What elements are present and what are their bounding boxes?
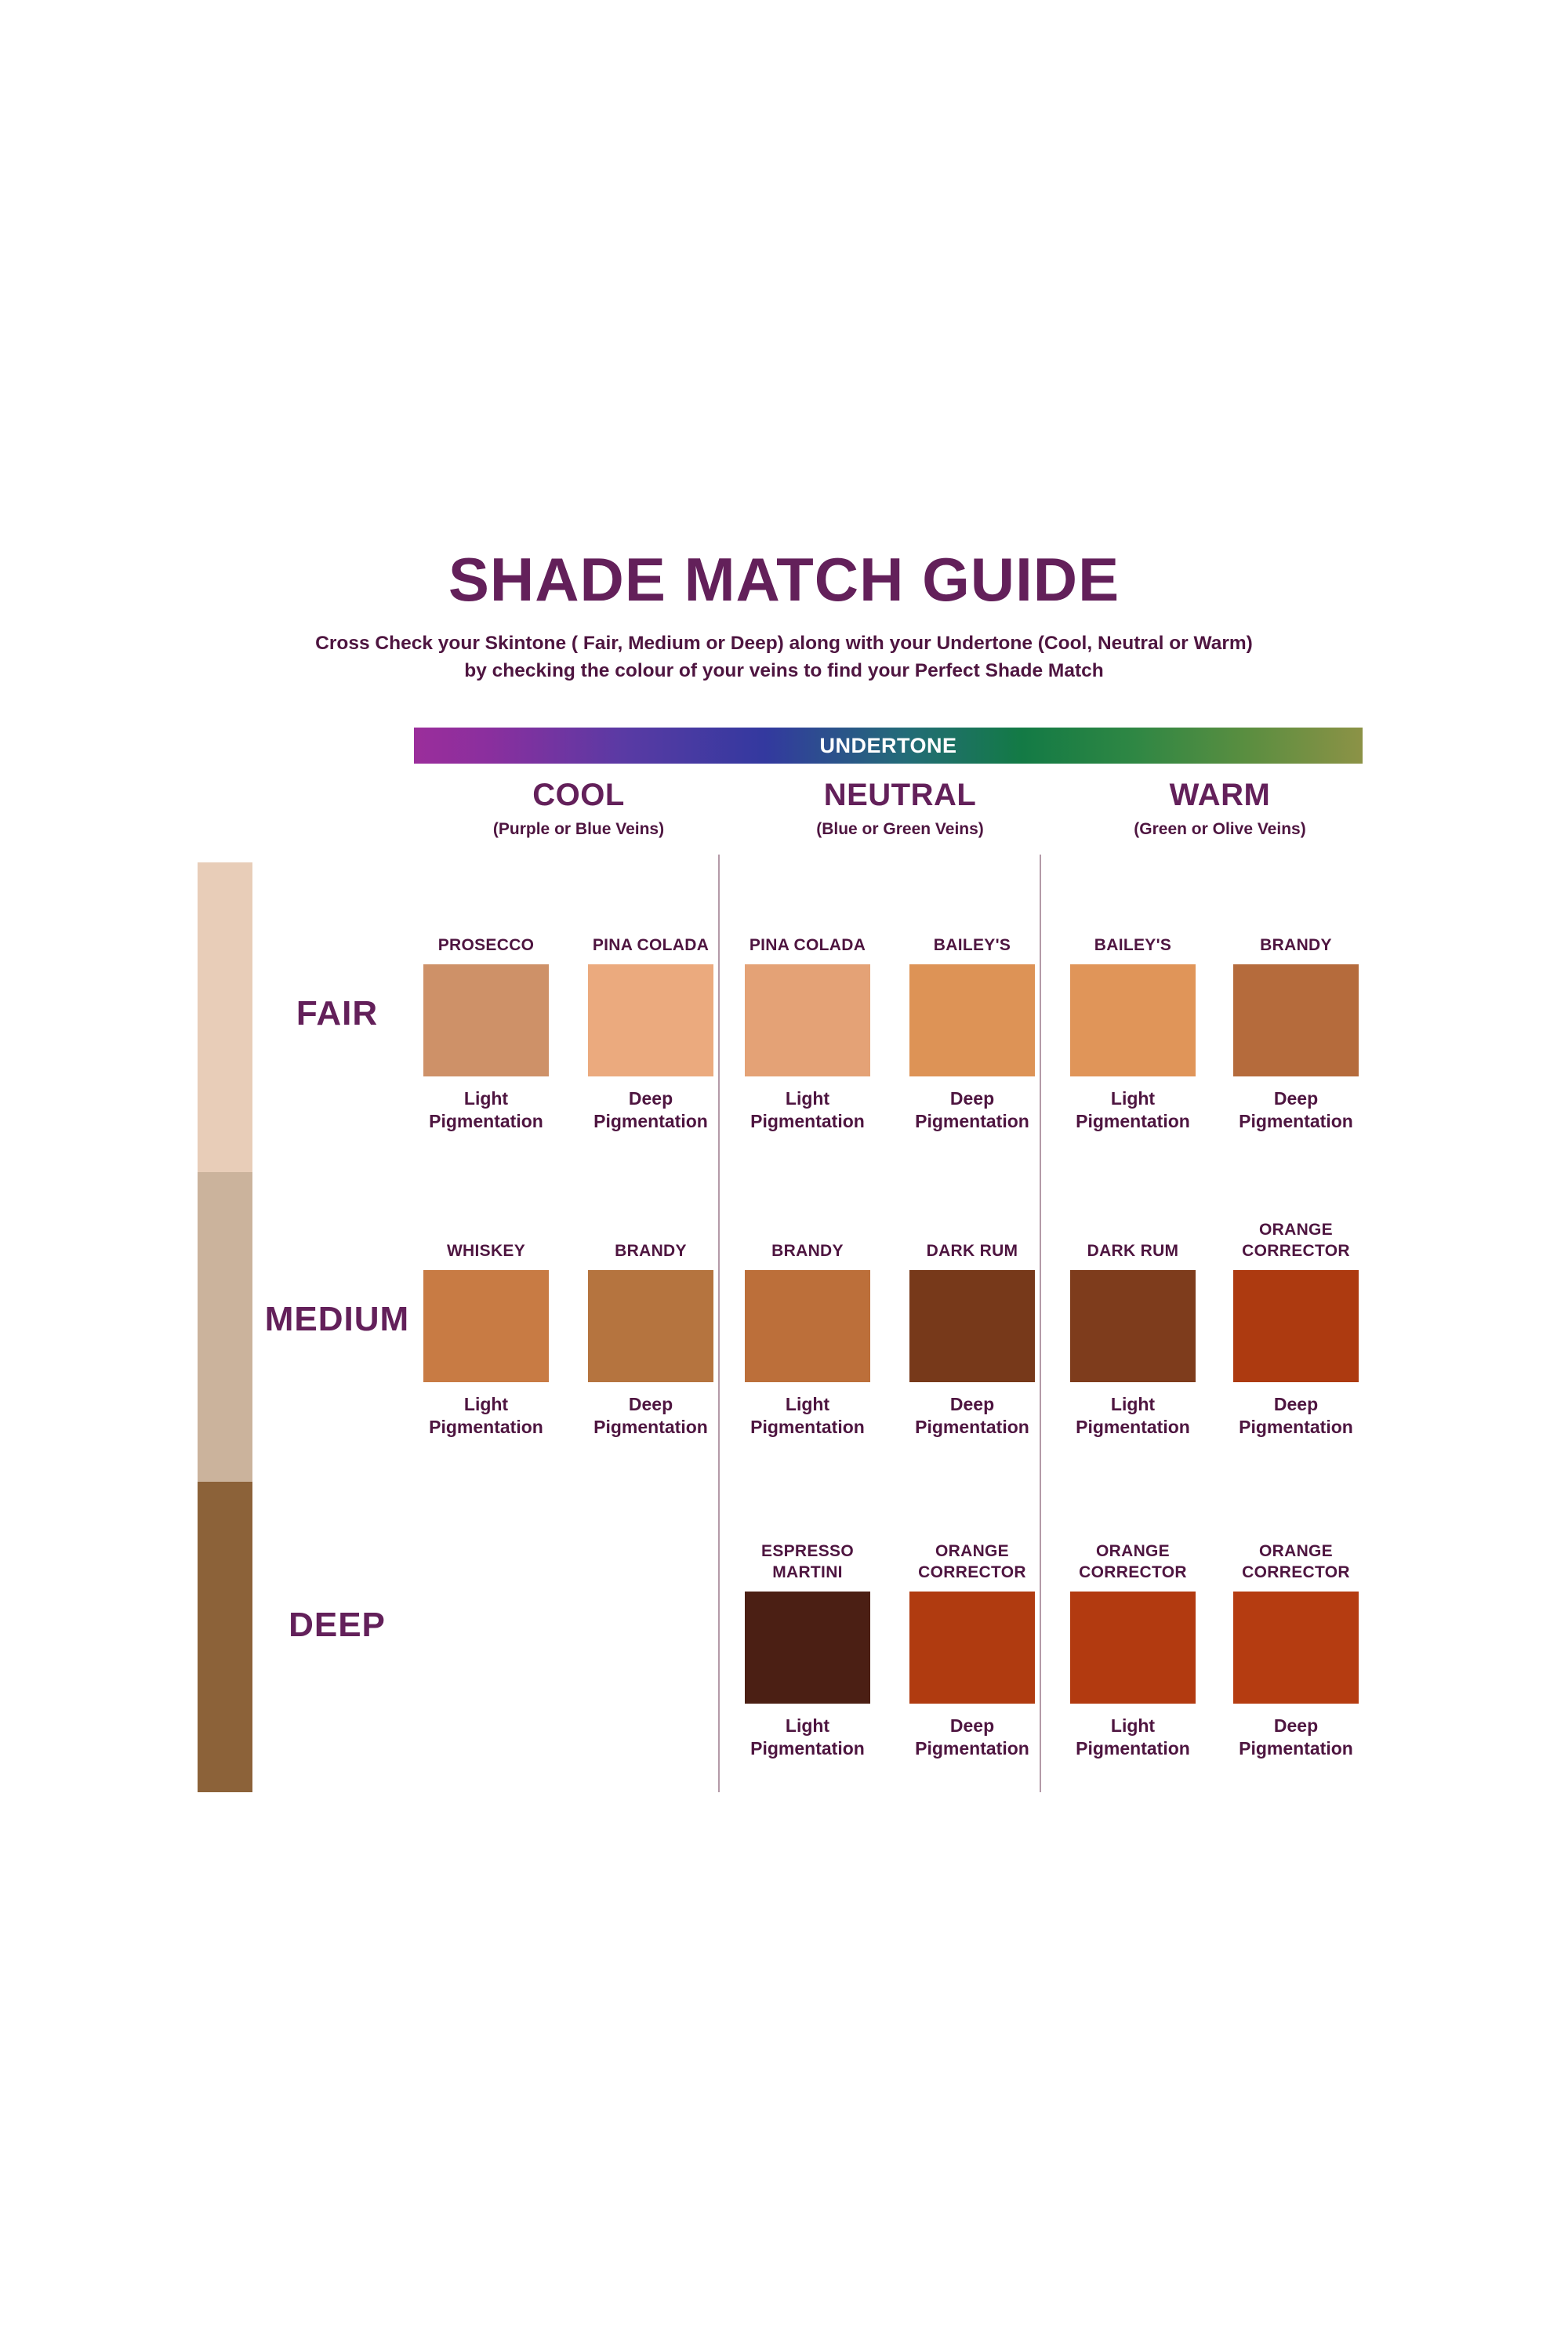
shade-name: ORANGECORRECTOR: [1058, 1541, 1207, 1584]
shade-swatch[interactable]: [909, 1270, 1035, 1382]
shade-name: ORANGECORRECTOR: [1221, 1220, 1370, 1262]
skintone-segment-fair: [198, 862, 252, 1172]
shade-name: ORANGECORRECTOR: [1221, 1541, 1370, 1584]
skintone-segment-medium: SKINTONE: [198, 1172, 252, 1482]
skintone-bar: SKINTONE: [198, 862, 252, 1792]
shade-swatch[interactable]: [745, 1592, 870, 1704]
shade-swatch[interactable]: [1070, 1270, 1196, 1382]
pigmentation-label: DeepPigmentation: [576, 1087, 725, 1134]
shade-swatch[interactable]: [588, 1270, 713, 1382]
shade-name: DARK RUM: [1058, 1241, 1207, 1262]
swatch-cell-deep-neutral-light[interactable]: ESPRESSOMARTINI LightPigmentation: [733, 1592, 882, 1761]
shade-swatch[interactable]: [1233, 1270, 1359, 1382]
swatch-cell-fair-warm-deep[interactable]: BRANDY DeepPigmentation: [1221, 964, 1370, 1134]
page-title: SHADE MATCH GUIDE: [0, 549, 1568, 610]
column-header-cool: COOL (Purple or Blue Veins): [414, 779, 743, 839]
skintone-segment-deep: [198, 1482, 252, 1792]
pigmentation-label: DeepPigmentation: [898, 1715, 1047, 1761]
row-label-deep: DEEP: [259, 1606, 416, 1645]
column-sub-neutral: (Blue or Green Veins): [735, 820, 1065, 839]
swatch-cell-fair-cool-deep[interactable]: PINA COLADA DeepPigmentation: [576, 964, 725, 1134]
header: SHADE MATCH GUIDE Cross Check your Skint…: [0, 549, 1568, 685]
swatch-cell-deep-cool-light: [412, 1592, 561, 1715]
swatch-cell-medium-neutral-light[interactable]: BRANDY LightPigmentation: [733, 1270, 882, 1439]
column-sub-cool: (Purple or Blue Veins): [414, 820, 743, 839]
shade-name: BRANDY: [576, 1241, 725, 1262]
swatch-cell-medium-neutral-deep[interactable]: DARK RUM DeepPigmentation: [898, 1270, 1047, 1439]
pigmentation-label: DeepPigmentation: [898, 1393, 1047, 1439]
pigmentation-label: LightPigmentation: [733, 1715, 882, 1761]
column-title-cool: COOL: [414, 779, 743, 811]
column-title-warm: WARM: [1055, 779, 1385, 811]
pigmentation-label: LightPigmentation: [412, 1393, 561, 1439]
shade-name: PINA COLADA: [576, 935, 725, 956]
column-header-warm: WARM (Green or Olive Veins): [1055, 779, 1385, 839]
shade-name: DARK RUM: [898, 1241, 1047, 1262]
pigmentation-label: LightPigmentation: [1058, 1393, 1207, 1439]
pigmentation-label: DeepPigmentation: [1221, 1087, 1370, 1134]
column-title-neutral: NEUTRAL: [735, 779, 1065, 811]
column-header-neutral: NEUTRAL (Blue or Green Veins): [735, 779, 1065, 839]
shade-swatch[interactable]: [745, 1270, 870, 1382]
shade-swatch[interactable]: [1070, 1592, 1196, 1704]
shade-name: ESPRESSOMARTINI: [733, 1541, 882, 1584]
undertone-gradient-bar: UNDERTONE: [414, 728, 1363, 764]
shade-name: BAILEY'S: [898, 935, 1047, 956]
shade-name: BAILEY'S: [1058, 935, 1207, 956]
pigmentation-label: LightPigmentation: [733, 1087, 882, 1134]
shade-name: PROSECCO: [412, 935, 561, 956]
swatch-cell-deep-warm-light[interactable]: ORANGECORRECTOR LightPigmentation: [1058, 1592, 1207, 1761]
subtitle-line-2: by checking the colour of your veins to …: [0, 658, 1568, 685]
swatch-cell-fair-neutral-light[interactable]: PINA COLADA LightPigmentation: [733, 964, 882, 1134]
swatch-cell-deep-cool-deep: [576, 1592, 725, 1715]
swatch-cell-medium-warm-deep[interactable]: ORANGECORRECTOR DeepPigmentation: [1221, 1270, 1370, 1439]
swatch-cell-medium-cool-light[interactable]: WHISKEY LightPigmentation: [412, 1270, 561, 1439]
row-label-medium: MEDIUM: [259, 1300, 416, 1339]
shade-swatch[interactable]: [909, 964, 1035, 1076]
shade-swatch[interactable]: [423, 1270, 549, 1382]
shade-match-guide-page: SHADE MATCH GUIDE Cross Check your Skint…: [0, 0, 1568, 2352]
shade-name: BRANDY: [733, 1241, 882, 1262]
shade-swatch[interactable]: [1233, 964, 1359, 1076]
swatch-cell-fair-neutral-deep[interactable]: BAILEY'S DeepPigmentation: [898, 964, 1047, 1134]
pigmentation-label: DeepPigmentation: [576, 1393, 725, 1439]
shade-name: ORANGECORRECTOR: [898, 1541, 1047, 1584]
pigmentation-label: DeepPigmentation: [1221, 1715, 1370, 1761]
pigmentation-label: LightPigmentation: [733, 1393, 882, 1439]
pigmentation-label: LightPigmentation: [412, 1087, 561, 1134]
shade-name: WHISKEY: [412, 1241, 561, 1262]
swatch-cell-fair-cool-light[interactable]: PROSECCO LightPigmentation: [412, 964, 561, 1134]
undertone-column-headers: COOL (Purple or Blue Veins) NEUTRAL (Blu…: [414, 779, 1363, 855]
swatch-cell-deep-warm-deep[interactable]: ORANGECORRECTOR DeepPigmentation: [1221, 1592, 1370, 1761]
shade-swatch[interactable]: [423, 964, 549, 1076]
pigmentation-label: DeepPigmentation: [1221, 1393, 1370, 1439]
swatch-cell-fair-warm-light[interactable]: BAILEY'S LightPigmentation: [1058, 964, 1207, 1134]
shade-swatch[interactable]: [745, 964, 870, 1076]
shade-name: PINA COLADA: [733, 935, 882, 956]
swatch-cell-deep-neutral-deep[interactable]: ORANGECORRECTOR DeepPigmentation: [898, 1592, 1047, 1761]
undertone-label: UNDERTONE: [414, 728, 1363, 764]
column-sub-warm: (Green or Olive Veins): [1055, 820, 1385, 839]
shade-swatch[interactable]: [588, 964, 713, 1076]
subtitle-line-1: Cross Check your Skintone ( Fair, Medium…: [0, 630, 1568, 658]
shade-swatch[interactable]: [1070, 964, 1196, 1076]
swatch-cell-medium-warm-light[interactable]: DARK RUM LightPigmentation: [1058, 1270, 1207, 1439]
pigmentation-label: LightPigmentation: [1058, 1715, 1207, 1761]
pigmentation-label: DeepPigmentation: [898, 1087, 1047, 1134]
shade-name: BRANDY: [1221, 935, 1370, 956]
page-subtitle: Cross Check your Skintone ( Fair, Medium…: [0, 630, 1568, 685]
shade-swatch[interactable]: [909, 1592, 1035, 1704]
swatch-cell-medium-cool-deep[interactable]: BRANDY DeepPigmentation: [576, 1270, 725, 1439]
shade-swatch[interactable]: [1233, 1592, 1359, 1704]
row-label-fair: FAIR: [259, 994, 416, 1033]
pigmentation-label: LightPigmentation: [1058, 1087, 1207, 1134]
